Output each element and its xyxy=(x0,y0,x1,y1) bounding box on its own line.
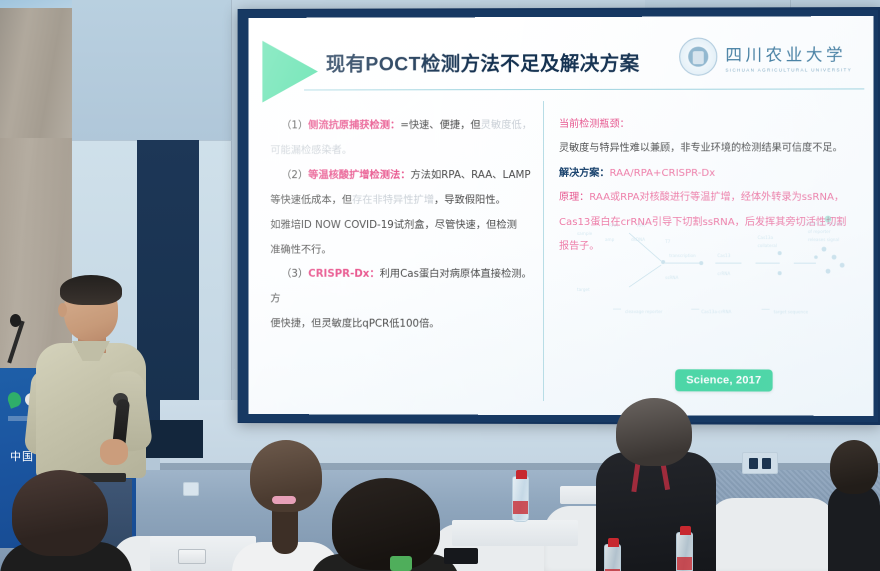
left-item2-line1: （2）等温核酸扩增检测法：方法如RPA、RAA、LAMP xyxy=(270,163,533,188)
wall-panel-upper xyxy=(72,0,232,140)
audience-head xyxy=(616,398,692,466)
water-bottle[interactable] xyxy=(676,532,693,571)
svg-text:Cas13a-crRNA: Cas13a-crRNA xyxy=(701,309,731,314)
audience-member xyxy=(828,440,880,571)
item1-number: （1） xyxy=(281,119,308,131)
power-outlet-plate[interactable] xyxy=(742,452,778,474)
svg-text:Cas13a: Cas13a xyxy=(758,235,774,240)
svg-text:collateral: collateral xyxy=(758,243,778,248)
left-item2-line2: 等快速低成本，但存在非特异性扩增，导致假阳性。 xyxy=(270,188,533,213)
column-divider xyxy=(543,101,544,401)
item1-body-a: =快速、便捷，但 xyxy=(400,119,480,131)
left-item3-line2: 便快捷，但灵敏度比qPCR低100倍。 xyxy=(270,312,533,337)
university-seal-icon xyxy=(679,38,717,76)
svg-text:RPA: RPA xyxy=(637,223,645,228)
svg-text:of reporter: of reporter xyxy=(808,229,831,234)
item2-body-d: ，导致假阳性。 xyxy=(434,194,506,206)
svg-text:RAA: RAA xyxy=(609,223,618,228)
item2-number: （2） xyxy=(281,169,308,181)
left-item2-line3: 如雅培ID NOW COVID-19试剂盒，尽管快速，但检测 xyxy=(270,213,533,238)
mechanism-diagram: sample RAA RPA amp dsDNA T7 transcriptio… xyxy=(565,213,864,321)
item3-number: （3） xyxy=(281,268,308,280)
slide-title: 现有POCT检测方法不足及解决方案 xyxy=(326,47,640,77)
water-bottle[interactable] xyxy=(512,476,529,522)
power-outlet-socket-right[interactable] xyxy=(762,458,771,469)
smartphone-on-desk[interactable] xyxy=(444,548,478,564)
solution-line: 解决方案：RAA/RPA+CRISPR-Dx xyxy=(559,162,856,187)
university-logo: 四川农业大学 SICHUAN AGRICULTURAL UNIVERSITY xyxy=(679,30,862,83)
item2-body-c: 存在非特异性扩增 xyxy=(352,194,434,206)
title-underline xyxy=(304,88,864,90)
item1-body-b: 灵敏度低， xyxy=(481,119,532,131)
presenter-hand xyxy=(100,439,128,465)
triangle-accent-icon xyxy=(262,41,318,103)
principle-text-1: RAA或RPA对核酸进行等温扩增，经体外转录为ssRNA， xyxy=(589,192,844,203)
svg-text:Cas13: Cas13 xyxy=(717,253,730,258)
item2-term: 等温核酸扩增检测法： xyxy=(308,169,410,181)
smartphone-on-desk[interactable] xyxy=(178,549,206,564)
university-name-cn: 四川农业大学 xyxy=(725,41,852,65)
university-logo-text: 四川农业大学 SICHUAN AGRICULTURAL UNIVERSITY xyxy=(725,41,852,72)
solution-text: RAA/RPA+CRISPR-Dx xyxy=(609,168,715,179)
slide-left-column: （1）侧流抗原捕获检测：=快速、便捷，但灵敏度低， 可能漏检感染者。 （2）等温… xyxy=(270,113,533,337)
svg-text:target sequence: target sequence xyxy=(774,309,809,314)
hair-tie xyxy=(272,496,296,504)
audience-body xyxy=(828,484,880,571)
svg-text:dsDNA: dsDNA xyxy=(631,237,645,242)
bottleneck-heading: 当前检测瓶颈： xyxy=(559,113,856,138)
audience-member xyxy=(0,470,132,571)
svg-text:transcription: transcription xyxy=(669,253,696,258)
conference-room-scene: 现有POCT检测方法不足及解决方案 四川农业大学 SICHUAN AGRICUL… xyxy=(0,0,880,571)
item1-term: 侧流抗原捕获检测： xyxy=(308,119,400,131)
wall-switch[interactable] xyxy=(183,482,199,496)
svg-text:crRNA: crRNA xyxy=(717,271,730,276)
audience-head xyxy=(332,478,440,570)
audience-head xyxy=(12,470,108,556)
svg-text:sample: sample xyxy=(577,231,593,236)
svg-text:ssRNA: ssRNA xyxy=(665,275,678,280)
conference-chair[interactable] xyxy=(708,498,836,571)
audience-member xyxy=(310,478,460,571)
item3-term: CRISPR-Dx： xyxy=(308,268,379,280)
presentation-slide: 现有POCT检测方法不足及解决方案 四川农业大学 SICHUAN AGRICUL… xyxy=(249,16,874,416)
left-item1-line2: 可能漏检感染者。 xyxy=(270,138,533,163)
university-name-en: SICHUAN AGRICULTURAL UNIVERSITY xyxy=(725,67,852,72)
item2-body-b: 等快速低成本，但 xyxy=(270,194,352,206)
principle-heading: 原理： xyxy=(559,192,589,203)
svg-text:collateral cleavage: collateral cleavage xyxy=(804,221,844,226)
left-item2-line4: 准确性不行。 xyxy=(270,237,533,262)
svg-text:T7: T7 xyxy=(664,239,671,244)
item2-body-a: 方法如RPA、RAA、LAMP xyxy=(410,169,530,181)
svg-text:amp: amp xyxy=(605,237,615,242)
svg-text:cleavage reporter: cleavage reporter xyxy=(625,309,663,314)
svg-text:target: target xyxy=(577,287,590,292)
presenter-ear xyxy=(58,303,67,317)
water-bottle[interactable] xyxy=(604,544,621,571)
leaf-icon xyxy=(6,390,23,409)
audience-head xyxy=(830,440,878,494)
solution-heading: 解决方案： xyxy=(559,168,609,179)
principle-line1: 原理：RAA或RPA对核酸进行等温扩增，经体外转录为ssRNA， xyxy=(559,186,856,211)
citation-badge: Science, 2017 xyxy=(675,369,772,391)
presenter-hair xyxy=(60,275,122,305)
microphone-stand-head-icon xyxy=(10,314,21,327)
left-item3-line1: （3）CRISPR-Dx：利用Cas蛋白对病原体直接检测。方 xyxy=(270,262,533,312)
power-outlet-socket-left[interactable] xyxy=(749,458,758,469)
left-item1-line1: （1）侧流抗原捕获检测：=快速、便捷，但灵敏度低， xyxy=(270,113,533,138)
green-object-on-desk[interactable] xyxy=(390,556,412,571)
audience-desk xyxy=(452,520,578,546)
bottleneck-text: 灵敏度与特异性难以兼顾，非专业环境的检测结果可信度不足。 xyxy=(559,137,856,162)
svg-text:releases signal: releases signal xyxy=(808,237,839,242)
